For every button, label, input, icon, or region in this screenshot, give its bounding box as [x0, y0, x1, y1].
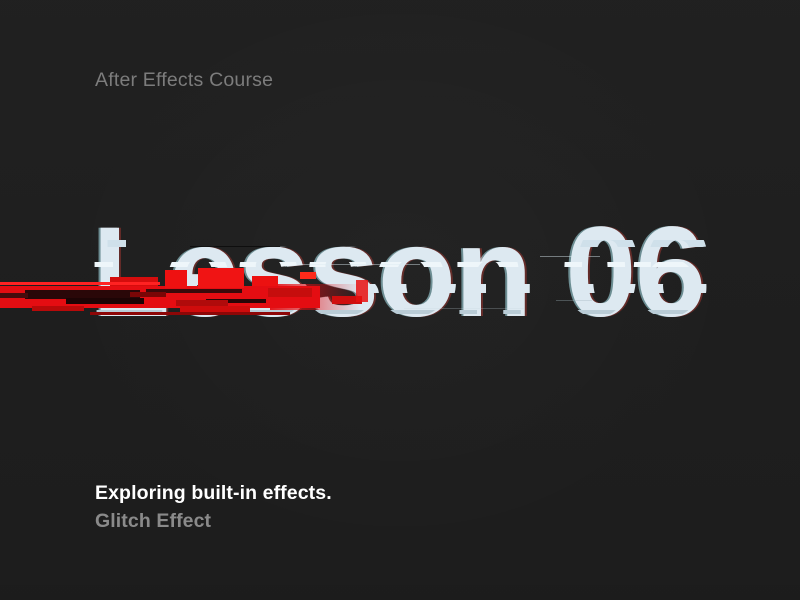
title-glitch-slice-3: Lesson 06: [0, 284, 800, 293]
title-glitch-slice-4: Lesson 06: [0, 310, 800, 314]
caption-block: Exploring built-in effects. Glitch Effec…: [95, 482, 332, 533]
scanline-1: [300, 264, 420, 265]
red-speckle-6: [356, 280, 368, 302]
red-speckle-2: [268, 288, 312, 297]
slide-canvas: After Effects Course Lesson 06 Lesson 06…: [0, 0, 800, 600]
red-speckle-3: [300, 272, 316, 279]
red-speckle-5: [176, 300, 228, 306]
lesson-title: Lesson 06: [92, 214, 800, 332]
scanline-2: [540, 256, 600, 257]
caption-primary-line: Exploring built-in effects.: [95, 482, 332, 505]
red-speckle-7: [130, 292, 166, 297]
scanline-5: [404, 308, 524, 309]
caption-secondary-line: Glitch Effect: [95, 510, 332, 533]
red-speckle-1: [252, 276, 278, 286]
scanline-3: [556, 300, 592, 301]
course-eyebrow-label: After Effects Course: [95, 69, 273, 92]
title-glitch-slice-3-text: Lesson 06: [97, 284, 710, 293]
scanline-4: [190, 246, 280, 247]
lesson-title-group: Lesson 06 Lesson 06 Lesson 06 Lesson 06 …: [0, 214, 800, 339]
title-glitch-slice-4-text: Lesson 06: [88, 310, 701, 314]
title-glitch-slice-1: Lesson 06: [0, 240, 800, 247]
